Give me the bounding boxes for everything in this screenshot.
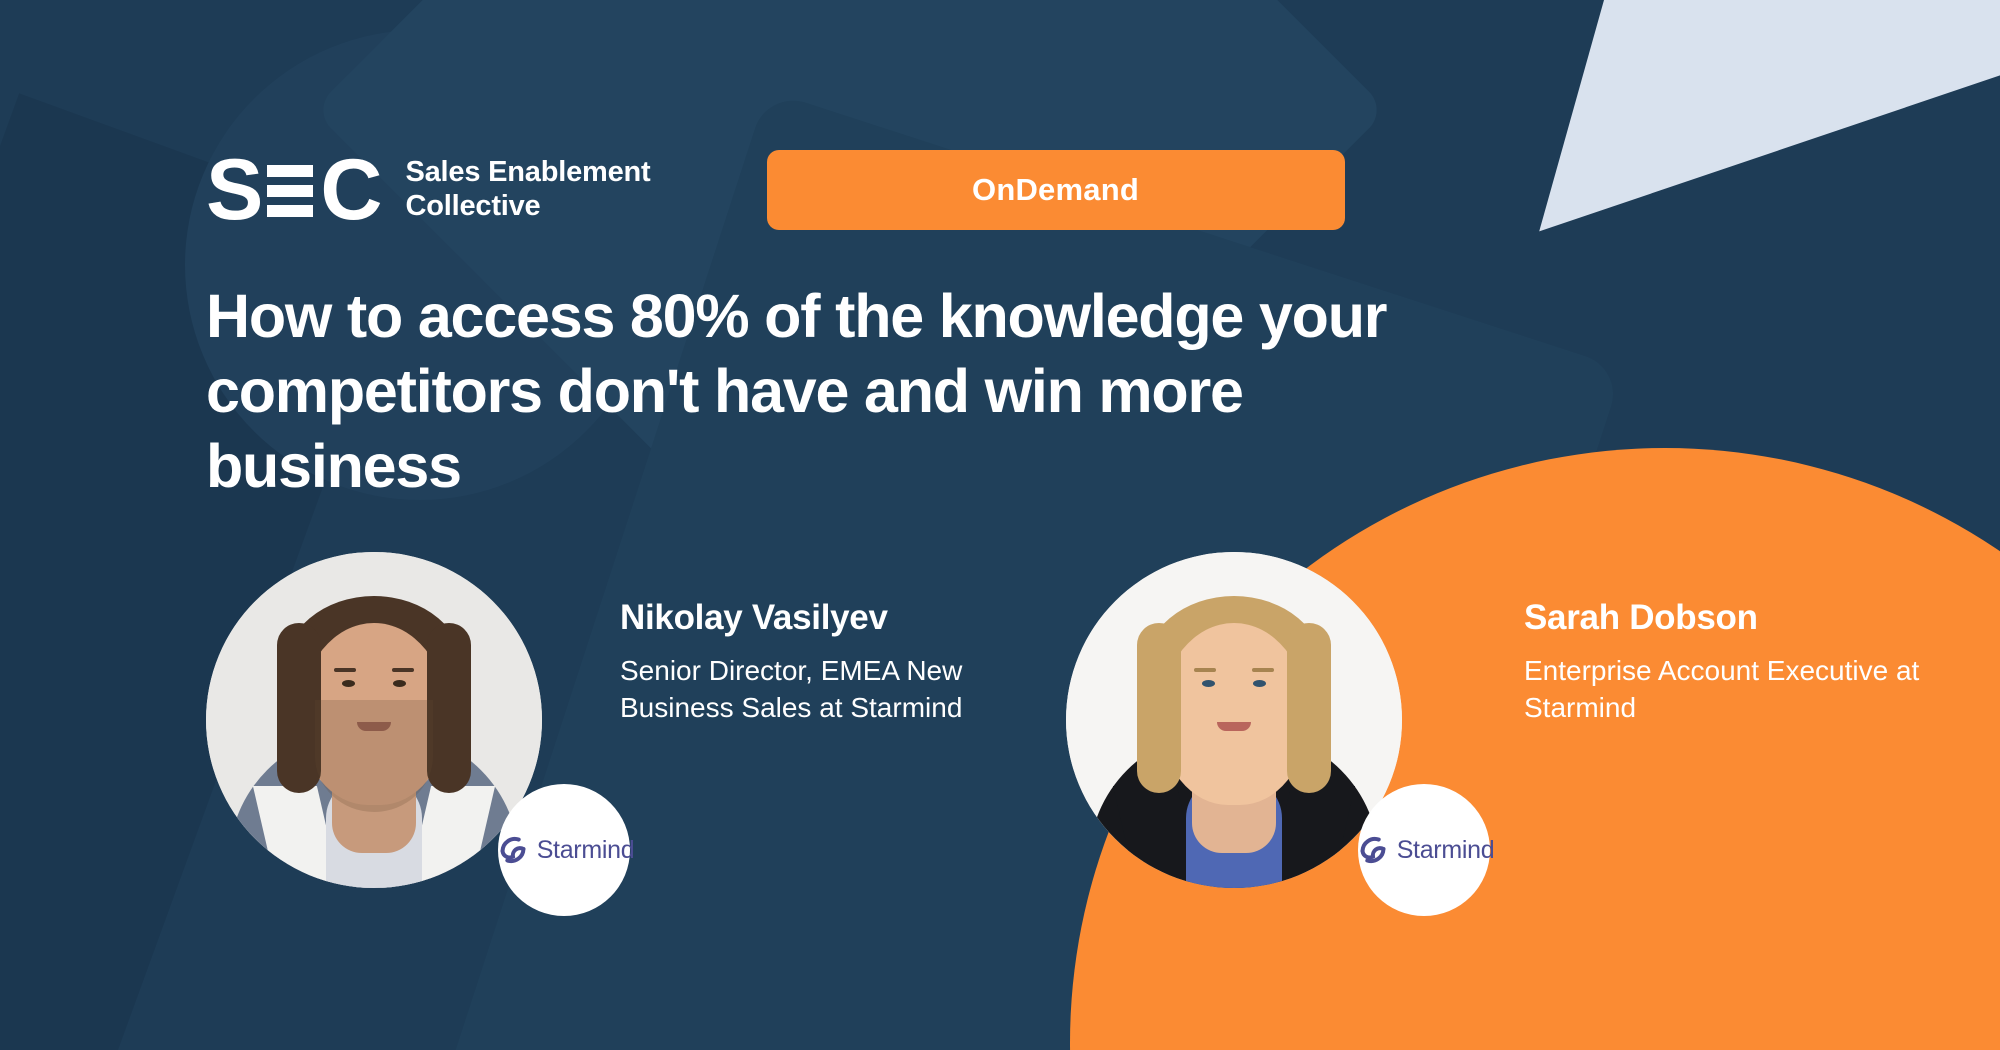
header: S C Sales Enablement Collective OnDemand — [206, 150, 1345, 230]
speaker-portrait-nikolay-vasilyev — [206, 552, 542, 888]
company-logo-badge: Starmind — [498, 784, 630, 916]
speaker-name: Nikolay Vasilyev — [620, 598, 1040, 638]
company-logo-badge: Starmind — [1358, 784, 1490, 916]
speaker-text: Nikolay Vasilyev Senior Director, EMEA N… — [620, 552, 1040, 726]
brand-name: Sales Enablement Collective — [405, 156, 650, 224]
speaker-role: Enterprise Account Executive at Starmind — [1524, 652, 1954, 726]
company-logo-wordmark: Starmind — [537, 838, 635, 863]
sec-logo-letter-e — [267, 163, 313, 217]
brand-lockup[interactable]: S C Sales Enablement Collective — [206, 154, 651, 226]
company-logo-wordmark: Starmind — [1397, 838, 1495, 863]
speaker-photo-wrap: Starmind — [206, 552, 542, 888]
avatar — [206, 552, 542, 888]
headline-line-1: How to access 80% of the knowledge your — [206, 286, 1656, 347]
avatar — [1066, 552, 1402, 888]
ondemand-badge[interactable]: OnDemand — [767, 150, 1345, 230]
speaker-portrait-sarah-dobson — [1066, 552, 1402, 888]
speaker-role: Senior Director, EMEA New Business Sales… — [620, 652, 1040, 726]
top-right-light-shard — [1520, 0, 2000, 260]
headline-line-3: business — [206, 436, 1656, 497]
sec-logo-letter-s: S — [206, 159, 260, 221]
starmind-logo-icon — [1354, 831, 1392, 869]
webinar-promo-banner: S C Sales Enablement Collective OnDemand… — [0, 0, 2000, 1050]
speaker-text: Sarah Dobson Enterprise Account Executiv… — [1524, 552, 1954, 726]
speaker-name: Sarah Dobson — [1524, 598, 1954, 638]
headline-line-2: competitors don't have and win more — [206, 361, 1656, 422]
brand-name-line-2: Collective — [405, 190, 650, 224]
sec-logo-icon: S C — [206, 154, 379, 226]
sec-logo-letter-c: C — [320, 159, 379, 221]
speaker-photo-wrap: Starmind — [1066, 552, 1402, 888]
speaker-card: Starmind Nikolay Vasilyev Senior Directo… — [206, 552, 1040, 888]
brand-name-line-1: Sales Enablement — [405, 156, 650, 190]
ondemand-badge-label: OnDemand — [972, 172, 1139, 208]
speaker-card: Starmind Sarah Dobson Enterprise Account… — [1066, 552, 1954, 888]
starmind-logo-icon — [494, 831, 532, 869]
page-title: How to access 80% of the knowledge your … — [206, 286, 1656, 511]
